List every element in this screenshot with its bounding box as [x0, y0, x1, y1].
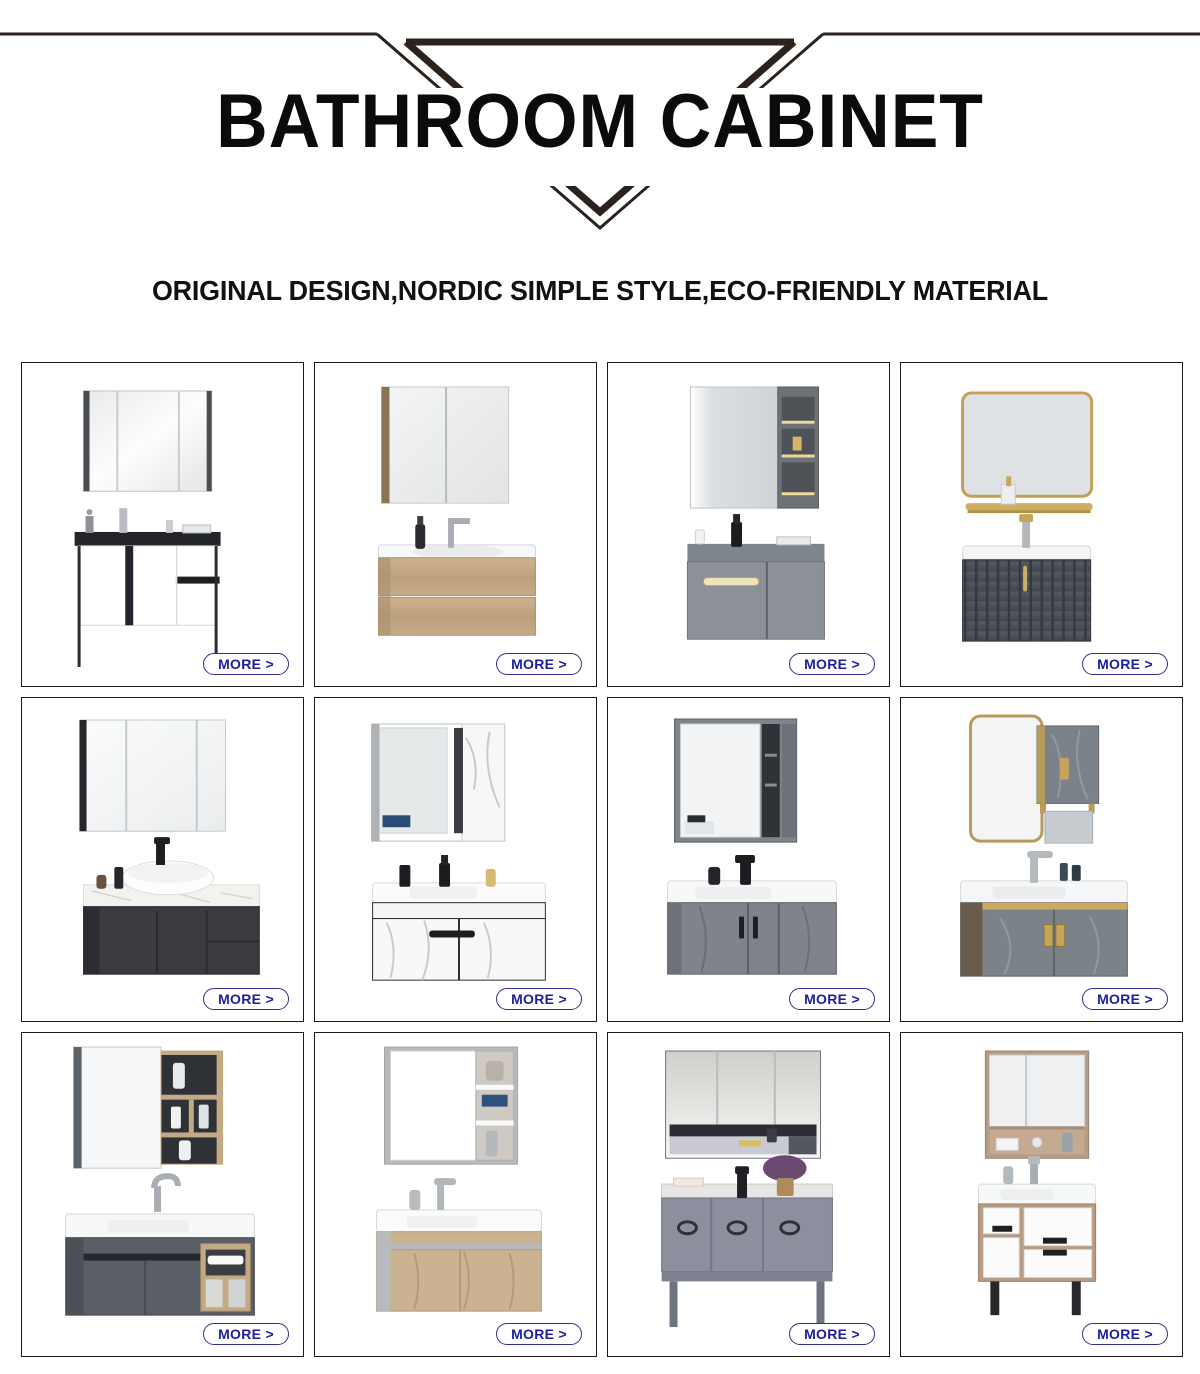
- product-card[interactable]: MORE >: [21, 362, 304, 687]
- more-button[interactable]: MORE >: [1082, 988, 1168, 1010]
- product-image-white-marble-vanity: [315, 698, 596, 1021]
- more-button[interactable]: MORE >: [1082, 653, 1168, 675]
- more-button[interactable]: MORE >: [789, 653, 875, 675]
- product-image-grey-woodgrain-vanity: [608, 698, 889, 1021]
- product-image-charcoal-fluted-vanity: [901, 363, 1182, 686]
- product-image-light-oak-vanity-side-shelves: [315, 1033, 596, 1356]
- product-image-white-black-trim-vanity: [22, 363, 303, 686]
- product-image-grey-vanity-gold-handle: [608, 363, 889, 686]
- product-card[interactable]: MORE >: [607, 362, 890, 687]
- product-image-light-oak-two-drawer-vanity: [315, 363, 596, 686]
- product-grid: MORE > MORE >: [21, 362, 1183, 1357]
- product-card[interactable]: MORE >: [900, 1032, 1183, 1357]
- product-card[interactable]: MORE >: [900, 362, 1183, 687]
- product-card[interactable]: MORE >: [607, 1032, 890, 1357]
- more-button[interactable]: MORE >: [789, 988, 875, 1010]
- product-card[interactable]: MORE >: [21, 697, 304, 1022]
- more-button[interactable]: MORE >: [203, 653, 289, 675]
- more-button[interactable]: MORE >: [203, 1323, 289, 1345]
- more-button[interactable]: MORE >: [203, 988, 289, 1010]
- product-image-white-floor-vanity-black-legs: [901, 1033, 1182, 1356]
- product-card[interactable]: MORE >: [314, 697, 597, 1022]
- product-card[interactable]: MORE >: [900, 697, 1183, 1022]
- page-subtitle: ORIGINAL DESIGN,NORDIC SIMPLE STYLE,ECO-…: [24, 275, 1176, 307]
- product-image-lavender-grey-floor-vanity: [608, 1033, 889, 1356]
- page-title: BATHROOM CABINET: [36, 78, 1164, 165]
- product-image-grey-vanity-open-wood-shelving: [22, 1033, 303, 1356]
- product-image-grey-stone-vanity-gold-mirror: [901, 698, 1182, 1021]
- more-button[interactable]: MORE >: [496, 988, 582, 1010]
- product-card[interactable]: MORE >: [21, 1032, 304, 1357]
- more-button[interactable]: MORE >: [496, 1323, 582, 1345]
- product-image-dark-vanity-vessel-basin: [22, 698, 303, 1021]
- more-button[interactable]: MORE >: [1082, 1323, 1168, 1345]
- product-card[interactable]: MORE >: [314, 1032, 597, 1357]
- product-card[interactable]: MORE >: [314, 362, 597, 687]
- product-card[interactable]: MORE >: [607, 697, 890, 1022]
- more-button[interactable]: MORE >: [789, 1323, 875, 1345]
- page-header: BATHROOM CABINET ORIGINAL DESIGN,NORDIC …: [0, 0, 1200, 340]
- more-button[interactable]: MORE >: [496, 653, 582, 675]
